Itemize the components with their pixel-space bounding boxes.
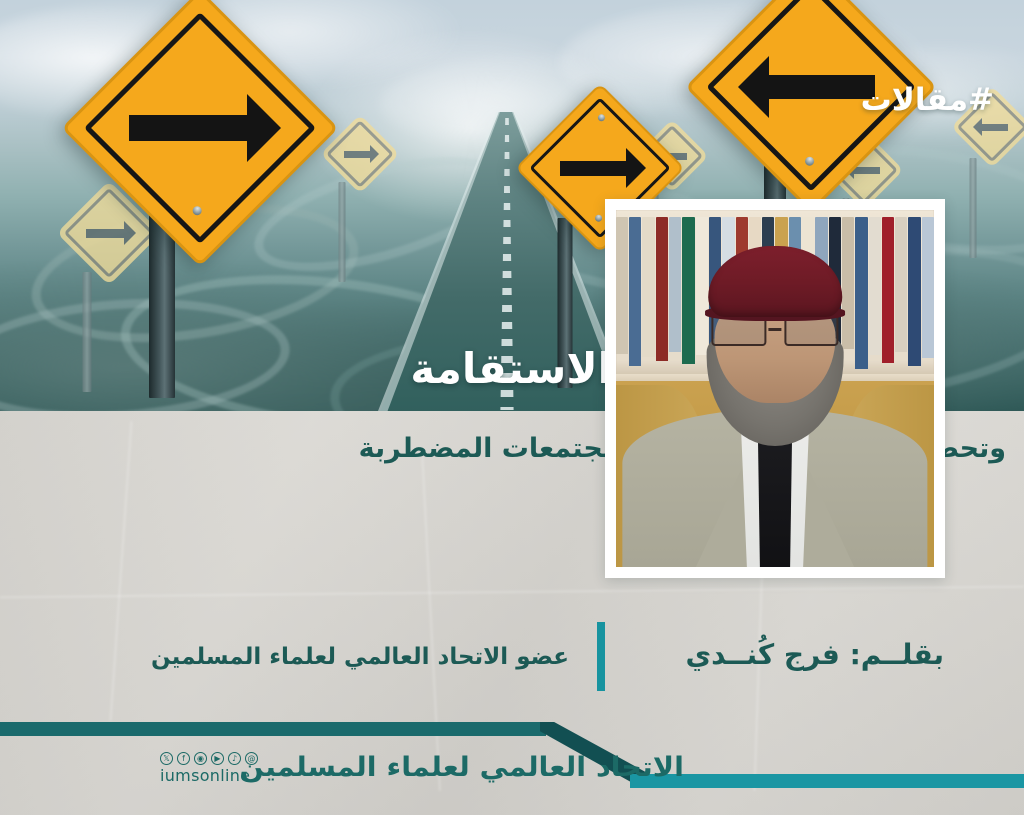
- arrow-right-icon: [560, 161, 626, 176]
- sign-post: [339, 182, 346, 282]
- sign-plate: [61, 0, 338, 267]
- sign-arrow-wrap: [105, 33, 295, 223]
- byline-author: بقلــم: فرج كُنــدي: [685, 638, 944, 671]
- hashtag-label: #مقالات: [861, 82, 994, 118]
- author-photo: [616, 210, 934, 567]
- article-poster: #مقالات الاستقامة وتحطم النفس البشرية في…: [0, 0, 1024, 815]
- glasses-bridge: [769, 328, 782, 331]
- arrow-right-icon: [344, 151, 370, 158]
- byline-role: عضو الاتحاد العالمي لعلماء المسلمين: [151, 644, 569, 670]
- x-icon[interactable]: 𝕏: [160, 752, 173, 765]
- facebook-icon[interactable]: f: [177, 752, 190, 765]
- fez-cap: [708, 246, 842, 317]
- sign-post: [83, 272, 92, 392]
- footer-bar-teal: [630, 774, 1024, 788]
- arrow-left-icon: [769, 75, 875, 99]
- logo-handle: iumsonline: [160, 766, 250, 785]
- sign-post: [970, 158, 977, 258]
- author-photo-frame: [605, 199, 945, 578]
- page-title: الاستقامة: [410, 344, 612, 393]
- logo-arabic-wordmark: الاتحاد العالمي لعلماء المسلمين: [239, 752, 684, 783]
- paper-crease: [421, 451, 441, 791]
- paper-crease: [110, 421, 133, 720]
- byline-divider: [597, 622, 605, 691]
- sign-arrow-wrap: [332, 126, 388, 182]
- footer-bar-dark: [0, 722, 546, 736]
- paper-crease: [0, 586, 1024, 599]
- author-figure: [616, 210, 934, 567]
- arrow-left-icon: [982, 124, 1008, 131]
- road-sign-left: [26, 0, 298, 264]
- arrow-right-icon: [129, 115, 247, 141]
- instagram-icon[interactable]: ◉: [194, 752, 207, 765]
- youtube-icon[interactable]: ▶: [211, 752, 224, 765]
